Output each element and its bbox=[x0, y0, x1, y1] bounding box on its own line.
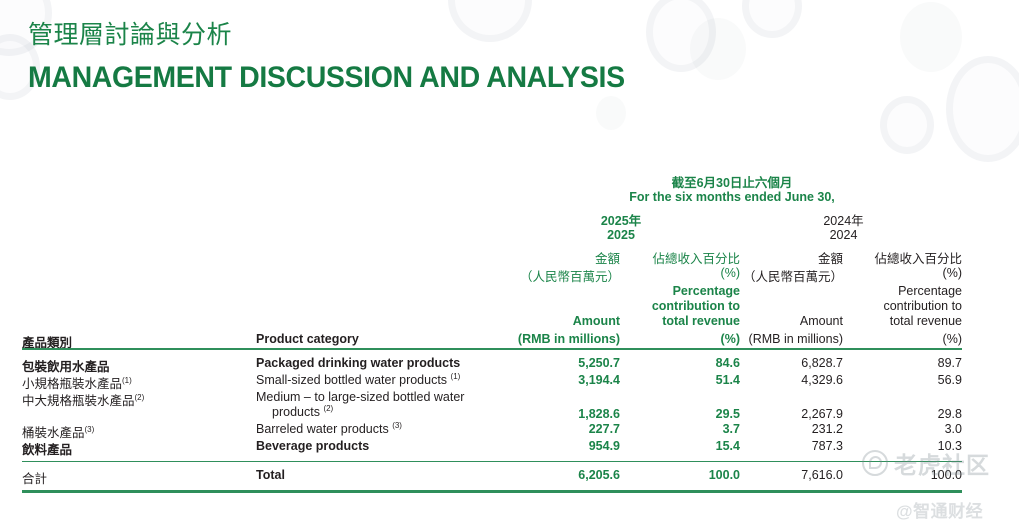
row-label-chinese: 飲料產品 bbox=[22, 439, 72, 458]
year-2024-label-english: 2024 bbox=[703, 228, 984, 242]
amount-unit-english-2024: (RMB in millions) bbox=[693, 332, 843, 346]
cell-amount-2024: 6,828.7 bbox=[713, 356, 843, 370]
percentage-header-english-2024-line1: Percentage bbox=[842, 284, 962, 298]
percentage-header-english-2025-line2: contribution to bbox=[620, 299, 740, 313]
category-header-english: Product category bbox=[256, 332, 359, 346]
percentage-unit-english-2024: (%) bbox=[842, 332, 962, 346]
percentage-header-english-2024-line3: total revenue bbox=[842, 314, 962, 328]
table-footer: 合計 Total 6,205.6 100.0 7,616.0 100.0 bbox=[22, 468, 962, 485]
cell-amount-2025: 227.7 bbox=[490, 422, 620, 436]
table-row-total: 合計 Total 6,205.6 100.0 7,616.0 100.0 bbox=[22, 468, 962, 485]
watermark-secondary-text: @智通财经 bbox=[896, 497, 983, 522]
period-header-english: For the six months ended June 30, bbox=[480, 190, 984, 204]
total-amount-2025: 6,205.6 bbox=[490, 468, 620, 482]
bubble-shape bbox=[946, 56, 1019, 162]
bubble-shape bbox=[900, 2, 962, 72]
bubble-shape bbox=[646, 0, 716, 72]
cell-percentage-2024: 3.0 bbox=[842, 422, 962, 436]
total-label-english: Total bbox=[256, 468, 506, 483]
cell-amount-2024: 787.3 bbox=[713, 439, 843, 453]
row-label-english: Small-sized bottled water products (1) bbox=[256, 373, 506, 388]
cell-percentage-2024: 89.7 bbox=[842, 356, 962, 370]
footnote-marker: (2) bbox=[323, 403, 333, 412]
footnote-marker: (3) bbox=[392, 420, 402, 429]
table-row: 小規格瓶裝水產品(1) Small-sized bottled water pr… bbox=[22, 373, 962, 390]
bubble-shape bbox=[880, 96, 934, 154]
amount-header-english-2025: Amount bbox=[490, 314, 620, 328]
footnote-marker: (3) bbox=[85, 424, 95, 433]
page-title-chinese: 管理層討論與分析 bbox=[28, 20, 656, 50]
table-body: 包裝飲用水產品 Packaged drinking water products… bbox=[22, 356, 962, 456]
cell-percentage-2024: 10.3 bbox=[842, 439, 962, 453]
table-bottom-rule bbox=[22, 490, 962, 493]
amount-unit-english-2025: (RMB in millions) bbox=[470, 332, 620, 346]
percentage-header-english-2025-line1: Percentage bbox=[620, 284, 740, 298]
total-label-chinese: 合計 bbox=[22, 468, 47, 487]
amount-unit-chinese-2024: （人民幣百萬元） bbox=[693, 266, 843, 285]
year-2024-label-chinese: 2024年 bbox=[703, 210, 984, 229]
table-header-rule bbox=[22, 348, 962, 350]
row-label-english: Barreled water products (3) bbox=[256, 422, 506, 437]
footnote-marker: (2) bbox=[135, 392, 145, 401]
cell-amount-2025: 5,250.7 bbox=[490, 356, 620, 370]
percentage-header-chinese-2024: 佔總收入百分比 bbox=[842, 248, 962, 267]
row-label-english: Beverage products bbox=[256, 439, 506, 454]
cell-percentage-2024: 29.8 bbox=[842, 407, 962, 421]
percentage-header-english-2024-line2: contribution to bbox=[842, 299, 962, 313]
row-label-english: Packaged drinking water products bbox=[256, 356, 506, 371]
footnote-marker: (1) bbox=[122, 375, 132, 384]
bubble-shape bbox=[596, 96, 626, 130]
cell-amount-2024: 2,267.9 bbox=[713, 407, 843, 421]
page-header: 管理層討論與分析 MANAGEMENT DISCUSSION AND ANALY… bbox=[28, 20, 656, 96]
bubble-shape bbox=[742, 0, 802, 38]
period-header-chinese: 截至6月30日止六個月 bbox=[480, 172, 984, 191]
row-label-english: Medium – to large-sized bottled water pr… bbox=[256, 390, 506, 420]
table-row: 包裝飲用水產品 Packaged drinking water products… bbox=[22, 356, 962, 373]
percentage-unit-chinese-2024: (%) bbox=[842, 266, 962, 280]
footnote-marker: (1) bbox=[451, 371, 461, 380]
cell-amount-2025: 954.9 bbox=[490, 439, 620, 453]
table-row: 飲料產品 Beverage products 954.9 15.4 787.3 … bbox=[22, 439, 962, 456]
total-percentage-2024: 100.0 bbox=[842, 468, 962, 482]
cell-amount-2024: 4,329.6 bbox=[713, 373, 843, 387]
row-label-chinese: 中大規格瓶裝水產品(2) bbox=[22, 390, 144, 409]
table-total-rule bbox=[22, 461, 962, 463]
amount-header-chinese-2024: 金額 bbox=[713, 248, 843, 267]
table-header-block: 截至6月30日止六個月 For the six months ended Jun… bbox=[22, 172, 962, 344]
revenue-breakdown-table: 截至6月30日止六個月 For the six months ended Jun… bbox=[22, 172, 962, 493]
page-title-english: MANAGEMENT DISCUSSION AND ANALYSIS bbox=[28, 60, 625, 96]
cell-amount-2025: 1,828.6 bbox=[490, 407, 620, 421]
table-row: 中大規格瓶裝水產品(2) Medium – to large-sized bot… bbox=[22, 390, 962, 422]
amount-header-english-2024: Amount bbox=[713, 314, 843, 328]
cell-amount-2025: 3,194.4 bbox=[490, 373, 620, 387]
table-row: 桶裝水產品(3) Barreled water products (3) 227… bbox=[22, 422, 962, 439]
total-amount-2024: 7,616.0 bbox=[713, 468, 843, 482]
cell-percentage-2024: 56.9 bbox=[842, 373, 962, 387]
cell-amount-2024: 231.2 bbox=[713, 422, 843, 436]
bubble-shape bbox=[690, 18, 746, 80]
amount-unit-chinese-2025: （人民幣百萬元） bbox=[470, 266, 620, 285]
amount-header-chinese-2025: 金額 bbox=[490, 248, 620, 267]
